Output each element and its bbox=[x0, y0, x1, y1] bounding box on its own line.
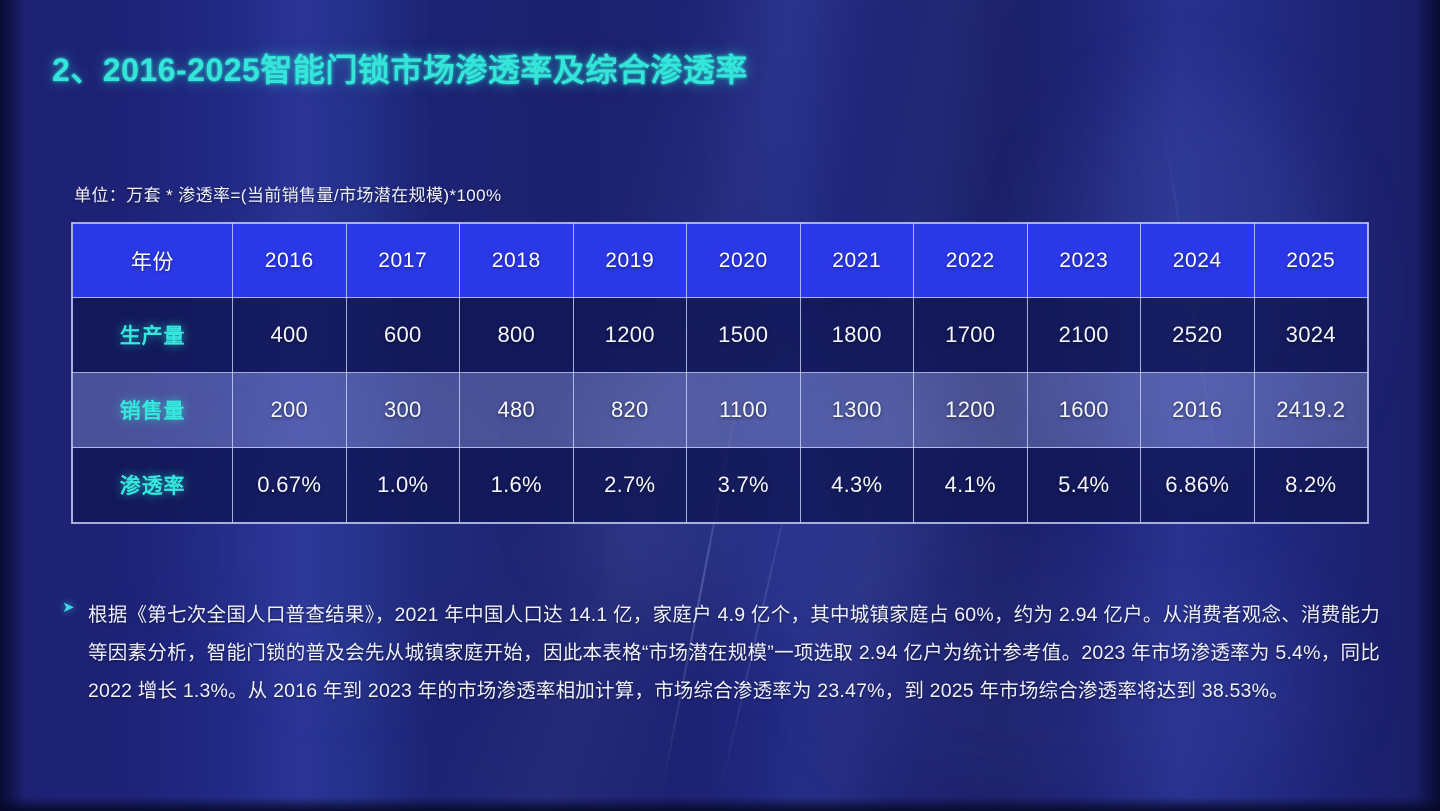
cell-production-2016: 400 bbox=[233, 298, 347, 373]
row-label-sales: 销售量 bbox=[73, 373, 233, 448]
column-header-2024: 2024 bbox=[1141, 224, 1255, 298]
cell-penetration-2018: 1.6% bbox=[460, 448, 574, 523]
cell-penetration-2024: 6.86% bbox=[1141, 448, 1255, 523]
arrow-bullet-icon: ➤ bbox=[62, 596, 88, 615]
edge-vignette-right bbox=[1414, 0, 1440, 811]
table-row: 渗透率 0.67% 1.0% 1.6% 2.7% 3.7% 4.3% 4.1% … bbox=[73, 448, 1368, 523]
penetration-rate-table: 年份 2016 2017 2018 2019 2020 2021 2022 20… bbox=[72, 223, 1368, 523]
cell-sales-2016: 200 bbox=[233, 373, 347, 448]
cell-sales-2021: 1300 bbox=[800, 373, 914, 448]
cell-penetration-2017: 1.0% bbox=[346, 448, 460, 523]
cell-production-2020: 1500 bbox=[687, 298, 801, 373]
column-header-2019: 2019 bbox=[573, 224, 687, 298]
slide-canvas: 2、2016-2025智能门锁市场渗透率及综合渗透率 单位：万套 * 渗透率=(… bbox=[0, 0, 1440, 811]
cell-production-2023: 2100 bbox=[1027, 298, 1141, 373]
unit-and-formula-note: 单位：万套 * 渗透率=(当前销售量/市场潜在规模)*100% bbox=[74, 181, 502, 206]
table-header: 年份 2016 2017 2018 2019 2020 2021 2022 20… bbox=[73, 224, 1368, 298]
cell-sales-2017: 300 bbox=[346, 373, 460, 448]
cell-production-2021: 1800 bbox=[800, 298, 914, 373]
cell-sales-2019: 820 bbox=[573, 373, 687, 448]
cell-production-2024: 2520 bbox=[1141, 298, 1255, 373]
cell-penetration-2019: 2.7% bbox=[573, 448, 687, 523]
cell-sales-2018: 480 bbox=[460, 373, 574, 448]
table-body: 生产量 400 600 800 1200 1500 1800 1700 2100… bbox=[73, 298, 1368, 523]
row-label-penetration: 渗透率 bbox=[73, 448, 233, 523]
cell-penetration-2025: 8.2% bbox=[1254, 448, 1368, 523]
edge-vignette-bottom bbox=[0, 797, 1440, 811]
column-header-2022: 2022 bbox=[914, 224, 1028, 298]
footnote-text: 根据《第七次全国人口普查结果》，2021 年中国人口达 14.1 亿，家庭户 4… bbox=[88, 596, 1380, 710]
cell-sales-2023: 1600 bbox=[1027, 373, 1141, 448]
table-row: 销售量 200 300 480 820 1100 1300 1200 1600 … bbox=[73, 373, 1368, 448]
column-header-2017: 2017 bbox=[346, 224, 460, 298]
table-header-row: 年份 2016 2017 2018 2019 2020 2021 2022 20… bbox=[73, 224, 1368, 298]
edge-vignette-left bbox=[0, 0, 26, 811]
cell-production-2022: 1700 bbox=[914, 298, 1028, 373]
cell-production-2025: 3024 bbox=[1254, 298, 1368, 373]
cell-production-2017: 600 bbox=[346, 298, 460, 373]
row-label-production: 生产量 bbox=[73, 298, 233, 373]
cell-penetration-2021: 4.3% bbox=[800, 448, 914, 523]
column-header-2018: 2018 bbox=[460, 224, 574, 298]
cell-penetration-2020: 3.7% bbox=[687, 448, 801, 523]
cell-sales-2024: 2016 bbox=[1141, 373, 1255, 448]
table-row: 生产量 400 600 800 1200 1500 1800 1700 2100… bbox=[73, 298, 1368, 373]
cell-penetration-2022: 4.1% bbox=[914, 448, 1028, 523]
cell-production-2019: 1200 bbox=[573, 298, 687, 373]
column-header-year-label: 年份 bbox=[73, 224, 233, 298]
column-header-2025: 2025 bbox=[1254, 224, 1368, 298]
penetration-rate-table-container: 年份 2016 2017 2018 2019 2020 2021 2022 20… bbox=[72, 223, 1368, 523]
column-header-2020: 2020 bbox=[687, 224, 801, 298]
footnote-block: ➤ 根据《第七次全国人口普查结果》，2021 年中国人口达 14.1 亿，家庭户… bbox=[62, 596, 1380, 710]
cell-sales-2020: 1100 bbox=[687, 373, 801, 448]
cell-sales-2022: 1200 bbox=[914, 373, 1028, 448]
cell-sales-2025: 2419.2 bbox=[1254, 373, 1368, 448]
column-header-2023: 2023 bbox=[1027, 224, 1141, 298]
slide-title: 2、2016-2025智能门锁市场渗透率及综合渗透率 bbox=[52, 45, 748, 91]
cell-production-2018: 800 bbox=[460, 298, 574, 373]
cell-penetration-2016: 0.67% bbox=[233, 448, 347, 523]
cell-penetration-2023: 5.4% bbox=[1027, 448, 1141, 523]
column-header-2021: 2021 bbox=[800, 224, 914, 298]
column-header-2016: 2016 bbox=[233, 224, 347, 298]
